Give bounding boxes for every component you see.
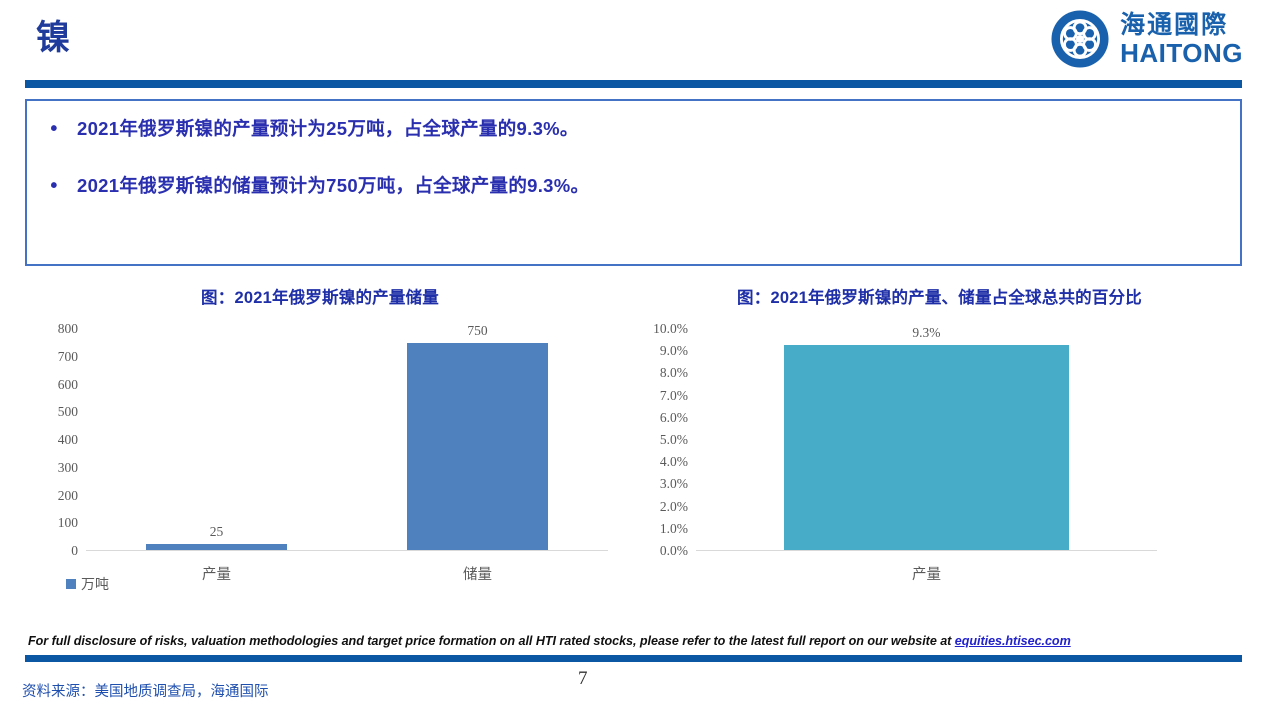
y-axis-tick-label: 600 <box>58 377 78 393</box>
y-axis-tick-label: 5.0% <box>660 432 688 448</box>
y-axis-tick-label: 800 <box>58 321 78 337</box>
bar-产量[interactable]: 9.3% <box>784 345 1070 550</box>
y-axis-tick-label: 0.0% <box>660 543 688 559</box>
bullet-item-1-text: 2021年俄罗斯镍的产量预计为25万吨，占全球产量的9.3%。 <box>65 117 579 141</box>
source-note: 资料来源：美国地质调查局，海通国际 <box>22 680 269 701</box>
y-axis-tick-label: 4.0% <box>660 454 688 470</box>
haitong-emblem-icon <box>1049 8 1111 70</box>
bar-储量[interactable]: 750 <box>407 343 548 550</box>
header-divider <box>25 80 1242 88</box>
chart-right-plot-area: 9.3% <box>696 329 1157 551</box>
disclaimer-text: For full disclosure of risks, valuation … <box>28 634 1240 648</box>
bar-产量[interactable]: 25 <box>146 544 287 550</box>
disclaimer-link[interactable]: equities.htisec.com <box>955 634 1071 648</box>
y-axis-tick-label: 300 <box>58 460 78 476</box>
y-axis-tick-label: 400 <box>58 432 78 448</box>
bar-value-label: 25 <box>210 524 224 540</box>
y-axis-tick-label: 1.0% <box>660 521 688 537</box>
chart-left-plot: 8007006005004003002001000 25750 产量储量 <box>20 329 620 551</box>
haitong-logo: 海通國際 HAITONG <box>1049 8 1243 70</box>
bullet-item-2-text: 2021年俄罗斯镍的储量预计为750万吨，占全球产量的9.3%。 <box>65 174 589 198</box>
bullet-item-2: • 2021年俄罗斯镍的储量预计为750万吨，占全球产量的9.3%。 <box>43 174 589 198</box>
page-number: 7 <box>578 668 588 690</box>
chart-production-reserves: 图：2021年俄罗斯镍的产量储量 80070060050040030020010… <box>20 288 620 628</box>
y-axis-tick-label: 200 <box>58 488 78 504</box>
chart-right-x-axis: 产量 <box>696 551 1157 581</box>
bullet-marker-icon: • <box>43 174 65 198</box>
y-axis-tick-label: 3.0% <box>660 476 688 492</box>
y-axis-tick-label: 100 <box>58 515 78 531</box>
chart-left-plot-area: 25750 <box>86 329 608 551</box>
logo-text-en: HAITONG <box>1120 40 1243 66</box>
chart-global-share-percent: 图：2021年俄罗斯镍的产量、储量占全球总共的百分比 10.0%9.0%8.0%… <box>632 288 1247 628</box>
y-axis-tick-label: 9.0% <box>660 343 688 359</box>
chart-left-legend: 万吨 <box>66 574 109 594</box>
logo-text-cn: 海通國際 <box>1120 13 1243 38</box>
x-axis-category-label: 储量 <box>463 563 492 584</box>
chart-left-title: 图：2021年俄罗斯镍的产量储量 <box>20 288 620 308</box>
legend-label: 万吨 <box>81 574 109 594</box>
bullet-marker-icon: • <box>43 117 65 141</box>
chart-left-y-axis: 8007006005004003002001000 <box>20 329 78 551</box>
summary-box: • 2021年俄罗斯镍的产量预计为25万吨，占全球产量的9.3%。 • 2021… <box>25 99 1242 266</box>
bar-value-label: 750 <box>467 323 487 339</box>
chart-right-y-axis: 10.0%9.0%8.0%7.0%6.0%5.0%4.0%3.0%2.0%1.0… <box>632 329 688 551</box>
footer-divider <box>25 655 1242 662</box>
bullet-item-1: • 2021年俄罗斯镍的产量预计为25万吨，占全球产量的9.3%。 <box>43 117 579 141</box>
chart-left-x-axis: 产量储量 <box>86 551 608 581</box>
y-axis-tick-label: 8.0% <box>660 365 688 381</box>
slide: 镍 海通國際 HAITONG <box>0 0 1267 710</box>
bar-value-label: 9.3% <box>912 325 940 341</box>
y-axis-tick-label: 6.0% <box>660 410 688 426</box>
y-axis-tick-label: 0 <box>71 543 78 559</box>
y-axis-tick-label: 10.0% <box>653 321 688 337</box>
x-axis-category-label: 产量 <box>912 563 941 584</box>
legend-swatch-icon <box>66 579 76 589</box>
x-axis-category-label: 产量 <box>202 563 231 584</box>
y-axis-tick-label: 2.0% <box>660 499 688 515</box>
disclaimer-prefix: For full disclosure of risks, valuation … <box>28 634 955 648</box>
y-axis-tick-label: 7.0% <box>660 388 688 404</box>
page-title: 镍 <box>36 20 71 57</box>
y-axis-tick-label: 700 <box>58 349 78 365</box>
chart-right-plot: 10.0%9.0%8.0%7.0%6.0%5.0%4.0%3.0%2.0%1.0… <box>632 329 1247 551</box>
y-axis-tick-label: 500 <box>58 404 78 420</box>
chart-right-title: 图：2021年俄罗斯镍的产量、储量占全球总共的百分比 <box>632 288 1247 308</box>
